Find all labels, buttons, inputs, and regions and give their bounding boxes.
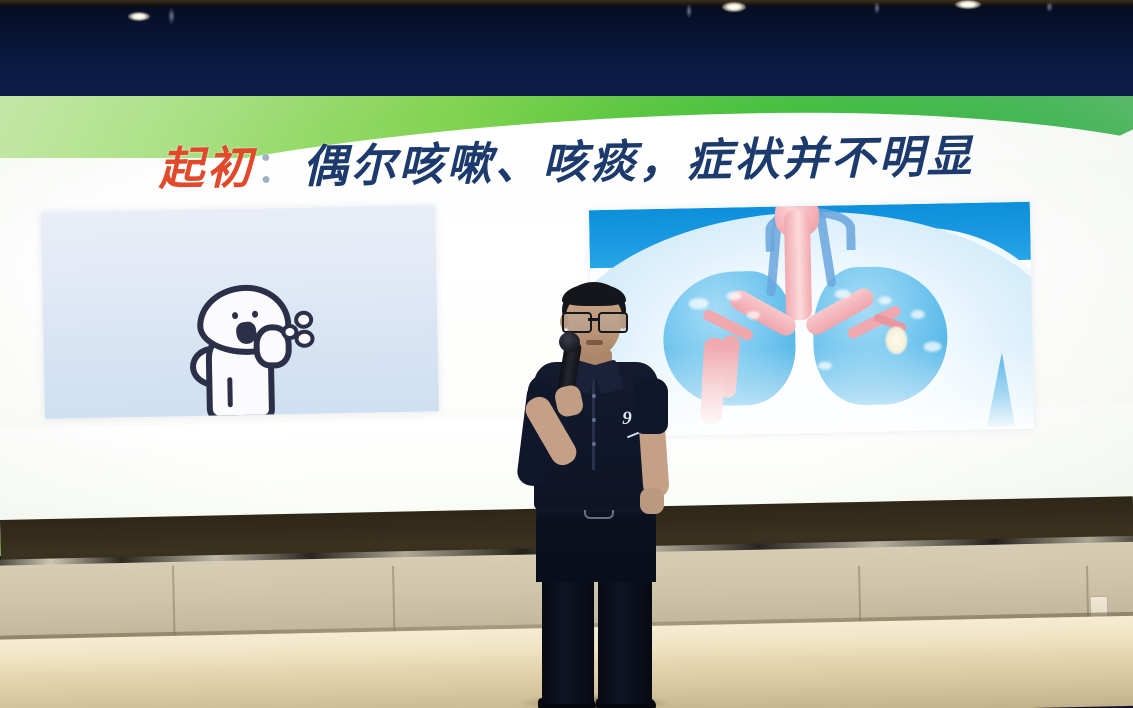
cough-droplet-icon [294,311,313,329]
glasses-lens-left [562,312,592,333]
figure-eye-left [232,312,238,319]
glasses-bridge [588,318,598,321]
figure-eye-right [252,311,258,318]
cough-droplet-icon [294,330,314,348]
shirt-button [592,418,596,422]
mouth [586,340,603,345]
shirt-button [592,442,596,446]
ceiling-light-glow [168,8,175,24]
glasses-icon [561,312,627,329]
ceiling-light-glow [686,4,692,18]
trouser-leg-left [542,574,594,704]
ceiling-spotlight-icon [128,12,150,21]
glasses-lens-right [598,312,628,333]
figure-leg-separator [227,377,233,407]
shirt-button [592,394,596,398]
trousers-hips [536,512,656,582]
speaker-figure: 9 [500,282,690,708]
slide-title-prefix: 起初 [158,143,255,195]
shirt-placket [592,378,595,470]
presentation-photo: 起初：偶尔咳嗽、咳痰，症状并不明显 [0,0,1133,708]
ceiling-light-glow [1046,2,1053,12]
ceiling-spotlight-icon [955,0,981,9]
slide-panel-cartoon [41,205,439,419]
ceiling-spotlight-icon [722,2,746,12]
sleeve-right [634,378,668,434]
ceiling-light-glow [874,2,880,14]
hair-fringe [562,284,626,306]
slide-title-body: 偶尔咳嗽、咳痰，症状并不明显 [302,132,975,193]
hand-right [640,488,664,514]
trouser-leg-right [598,574,652,704]
coughing-figure-icon [192,284,304,411]
slide-title-separator: ： [254,142,303,193]
